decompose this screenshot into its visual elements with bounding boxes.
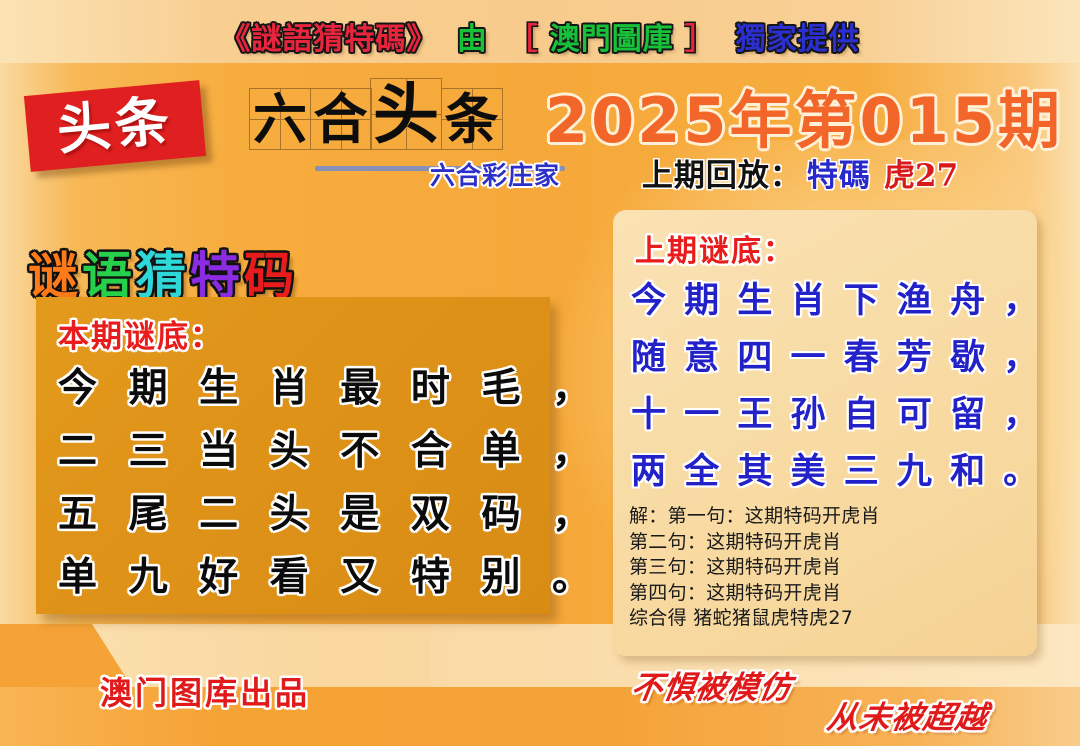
riddle-line: 今 期 生 肖 最 时 毛 ， (36, 357, 550, 420)
grid-cell: 六 (249, 88, 311, 150)
brand-tagline: 六合彩庄家 (430, 156, 560, 192)
issue-title: 2025年第015期 (545, 70, 1055, 160)
grid-cell: 条 (441, 88, 503, 150)
riddle-line: 单 九 好 看 又 特 别 。 (36, 546, 550, 609)
riddle-line: 二 三 当 头 不 合 单 ， (36, 420, 550, 483)
riddle-line: 两 全 其 美 三 九 和 。 (613, 443, 1037, 500)
riddle-line: 今 期 生 肖 下 渔 舟 ， (613, 272, 1037, 329)
header-title-exclusive: 獨家提供 (736, 14, 860, 58)
grid-cell-char: 六 (250, 89, 310, 149)
brand-grid: 六 合 头 条 (249, 78, 501, 150)
grid-cell: 头 (370, 78, 442, 150)
grid-cell-char: 头 (371, 79, 441, 149)
note-line: 综合得 猪蛇猪鼠虎特虎27 (629, 606, 1029, 632)
header-tagline: 《謎語猜特碼》 由 ［ 澳門圖庫 ］ 獨家提供 (0, 14, 1080, 58)
poster-canvas: 《謎語猜特碼》 由 ［ 澳門圖庫 ］ 獨家提供 头条 六 合 头 条 六合彩庄家… (0, 0, 1080, 746)
footer-producer: 澳门图库出品 (100, 668, 310, 714)
issue-recap: 上期回放： 特碼 虎27 (545, 150, 1055, 195)
previous-riddle-lines: 今 期 生 肖 下 渔 舟 ， 随 意 四 一 春 芳 歇 ， 十 一 王 孙 … (613, 272, 1037, 500)
recap-key: 特碼 (807, 150, 871, 195)
grid-cell-char: 条 (442, 89, 502, 149)
note-line: 解：第一句：这期特码开虎肖 (629, 504, 1029, 530)
current-riddle-panel: 本期谜底： 今 期 生 肖 最 时 毛 ， 二 三 当 头 不 合 单 ， 五 … (36, 297, 550, 614)
footer-slogan-primary: 不惧被模仿 (628, 662, 795, 707)
grid-cell: 合 (310, 88, 372, 150)
riddle-line: 十 一 王 孙 自 可 留 ， (613, 386, 1037, 443)
riddle-line: 五 尾 二 头 是 双 码 ， (36, 483, 550, 546)
header-source-label: 澳門圖庫 (550, 14, 674, 58)
header-title-main: 《謎語猜特碼》 (220, 14, 437, 58)
previous-riddle-heading: 上期谜底： (635, 226, 795, 270)
grid-cell-char: 合 (311, 89, 371, 149)
previous-riddle-panel: 上期谜底： 今 期 生 肖 下 渔 舟 ， 随 意 四 一 春 芳 歇 ， 十 … (613, 210, 1037, 656)
headline-badge-label: 头条 (55, 94, 175, 158)
note-line: 第四句：这期特码开虎肖 (629, 581, 1029, 607)
previous-riddle-notes: 解：第一句：这期特码开虎肖 第二句：这期特码开虎肖 第三句：这期特码开虎肖 第四… (629, 504, 1029, 632)
headline-badge: 头条 (24, 80, 206, 172)
header-title-by: 由 (457, 14, 488, 58)
header-bracket-close: ］ (685, 14, 716, 58)
header-bracket-open: ［ (507, 14, 538, 58)
note-line: 第三句：这期特码开虎肖 (629, 555, 1029, 581)
recap-label: 上期回放： (642, 150, 802, 195)
footer-slogan-secondary: 从未被超越 (824, 692, 991, 737)
current-riddle-heading: 本期谜底： (58, 311, 223, 356)
note-line: 第二句：这期特码开虎肖 (629, 530, 1029, 556)
recap-value: 虎27 (884, 150, 958, 195)
current-riddle-lines: 今 期 生 肖 最 时 毛 ， 二 三 当 头 不 合 单 ， 五 尾 二 头 … (36, 357, 550, 609)
riddle-line: 随 意 四 一 春 芳 歇 ， (613, 329, 1037, 386)
